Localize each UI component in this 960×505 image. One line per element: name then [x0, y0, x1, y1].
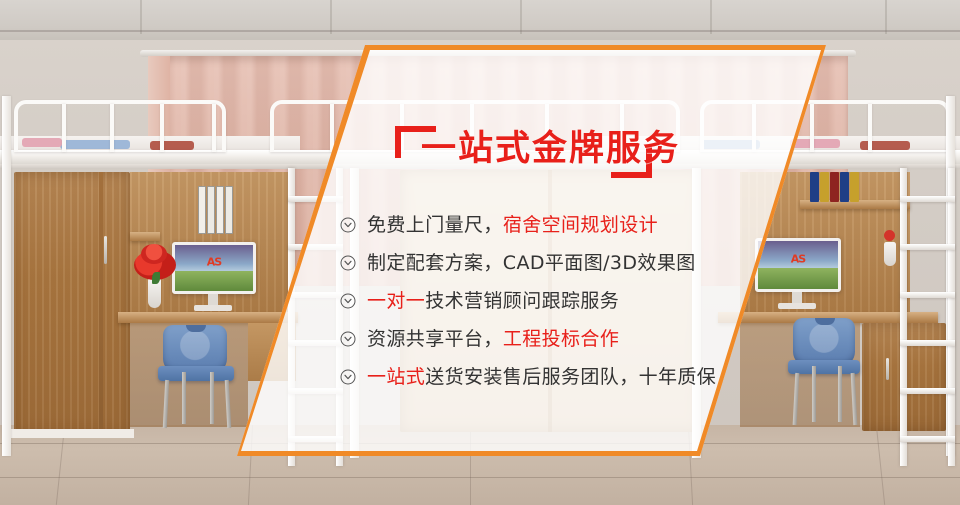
page-title: 一站式金牌服务 — [421, 127, 680, 171]
list-item: 免费上门量尺，宿舍空间规划设计 — [340, 206, 760, 244]
list-item-text: 资源共享平台，工程投标合作 — [367, 327, 619, 351]
circle-chevron-down-icon — [340, 255, 356, 271]
text-plain-2: 技术营销顾问跟踪服务 — [425, 290, 619, 312]
text-highlight: 一对一 — [367, 290, 425, 312]
text-plain: 免费上门量尺， — [367, 214, 503, 236]
service-list: 免费上门量尺，宿舍空间规划设计 制定配套方案，CAD平面图/3D效果图 — [340, 206, 760, 396]
text-highlight: 工程投标合作 — [503, 328, 619, 350]
circle-chevron-down-icon — [340, 331, 356, 347]
list-item-text: 一对一技术营销顾问跟踪服务 — [367, 289, 619, 313]
text-plain: 制定配套方案，CAD平面图/3D效果图 — [367, 252, 696, 274]
list-item: 一对一技术营销顾问跟踪服务 — [340, 282, 760, 320]
list-item: 制定配套方案，CAD平面图/3D效果图 — [340, 244, 760, 282]
circle-chevron-down-icon — [340, 369, 356, 385]
list-item-text: 免费上门量尺，宿舍空间规划设计 — [367, 213, 658, 237]
list-item-text: 一站式送货安装售后服务团队，十年质保 — [367, 365, 716, 389]
bracket-bottom-right-horizontal — [611, 172, 652, 178]
text-highlight: 宿舍空间规划设计 — [503, 214, 658, 236]
list-item: 一站式送货安装售后服务团队，十年质保 — [340, 358, 760, 396]
text-highlight: 一站式 — [367, 366, 425, 388]
text-plain: 资源共享平台， — [367, 328, 503, 350]
list-item: 资源共享平台，工程投标合作 — [340, 320, 760, 358]
circle-chevron-down-icon — [340, 293, 356, 309]
list-item-text: 制定配套方案，CAD平面图/3D效果图 — [367, 251, 696, 275]
circle-chevron-down-icon — [340, 217, 356, 233]
text-plain-2: 送货安装售后服务团队，十年质保 — [425, 366, 716, 388]
banner-stage: AS — [0, 0, 960, 505]
service-overlay: 一站式金牌服务 免费上门量尺，宿舍空间规划设计 — [0, 0, 960, 505]
title-block: 一站式金牌服务 — [395, 118, 670, 186]
